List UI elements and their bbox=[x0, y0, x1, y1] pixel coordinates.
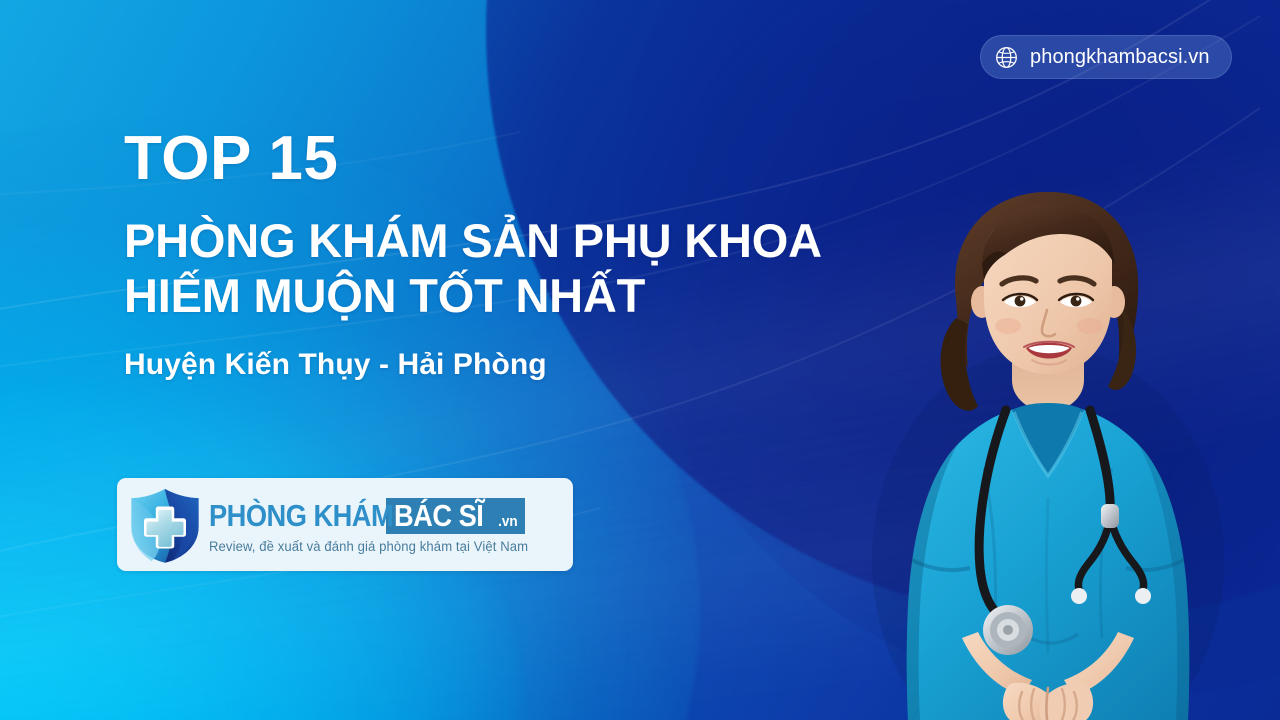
brand-word-primary: PHÒNG KHÁM bbox=[209, 498, 393, 534]
brand-tagline: Review, đề xuất và đánh giá phòng khám t… bbox=[209, 539, 528, 554]
headline-line-2: HIẾM MUỘN TỐT NHẤT bbox=[124, 269, 822, 324]
headline-line-1: PHÒNG KHÁM SẢN PHỤ KHOA bbox=[124, 214, 822, 269]
brand-wordmark-block: PHÒNG KHÁM BÁC SĨ .vn Review, đề xuất và… bbox=[209, 496, 538, 554]
promo-banner: phongkhambacsi.vn TOP 15 PHÒNG KHÁM SẢN … bbox=[0, 0, 1280, 720]
brand-word-highlight: BÁC SĨ bbox=[394, 498, 483, 534]
brand-word-highlight-box: BÁC SĨ .vn bbox=[386, 498, 525, 534]
shield-cross-icon bbox=[123, 483, 207, 567]
brand-logo-card[interactable]: PHÒNG KHÁM BÁC SĨ .vn Review, đề xuất và… bbox=[117, 478, 573, 571]
brand-wordmark: PHÒNG KHÁM BÁC SĨ .vn bbox=[209, 498, 538, 534]
website-badge[interactable]: phongkhambacsi.vn bbox=[980, 35, 1232, 79]
rank-title: TOP 15 bbox=[124, 128, 822, 190]
location-subtitle: Huyện Kiến Thụy - Hải Phòng bbox=[124, 350, 822, 380]
website-url-text: phongkhambacsi.vn bbox=[1030, 46, 1210, 69]
doctor-illustration bbox=[836, 168, 1256, 720]
globe-icon bbox=[994, 45, 1019, 70]
brand-word-tld: .vn bbox=[498, 504, 518, 540]
headline-block: TOP 15 PHÒNG KHÁM SẢN PHỤ KHOA HIẾM MUỘN… bbox=[124, 128, 822, 380]
doctor-photo bbox=[836, 168, 1256, 720]
